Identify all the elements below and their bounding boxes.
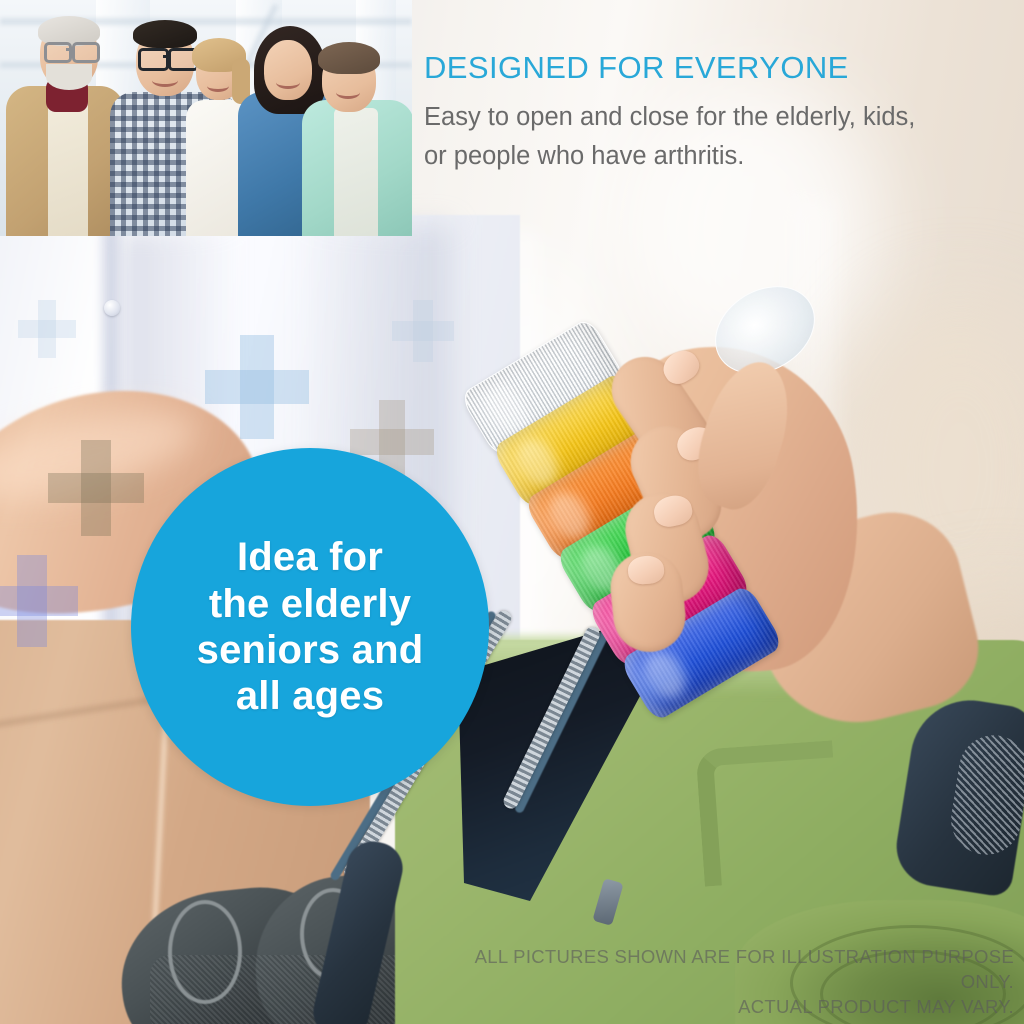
headline-text-block: DESIGNED FOR EVERYONE Easy to open and c… — [424, 52, 1004, 176]
medical-cross-icon — [205, 335, 309, 439]
idea-for-elderly-badge: Idea for the elderly seniors and all age… — [131, 448, 489, 806]
badge-line-4: all ages — [197, 673, 424, 719]
medical-cross-icon — [48, 440, 144, 536]
headline: DESIGNED FOR EVERYONE — [424, 52, 1004, 84]
subtitle-line-1: Easy to open and close for the elderly, … — [424, 98, 1004, 137]
family-photo-inset — [0, 0, 412, 236]
disclaimer-line-2: ACTUAL PRODUCT MAY VARY. — [462, 994, 1014, 1019]
badge-line-3: seniors and — [197, 627, 424, 673]
medical-cross-icon — [0, 555, 78, 647]
disclaimer-text: ALL PICTURES SHOWN ARE FOR ILLUSTRATION … — [462, 944, 1014, 1019]
subtitle-line-2: or people who have arthritis. — [424, 137, 1004, 176]
disclaimer-line-1: ALL PICTURES SHOWN ARE FOR ILLUSTRATION … — [462, 944, 1014, 994]
shirt-button — [104, 300, 120, 316]
medical-cross-icon — [18, 300, 76, 358]
product-marketing-image: DESIGNED FOR EVERYONE Easy to open and c… — [0, 0, 1024, 1024]
badge-line-1: Idea for — [197, 534, 424, 580]
shoelace — [168, 900, 242, 1004]
backpack-handle — [695, 740, 841, 886]
badge-line-2: the elderly — [197, 581, 424, 627]
badge-text: Idea for the elderly seniors and all age… — [185, 534, 436, 720]
medical-cross-icon — [392, 300, 454, 362]
subtitle: Easy to open and close for the elderly, … — [424, 98, 1004, 176]
